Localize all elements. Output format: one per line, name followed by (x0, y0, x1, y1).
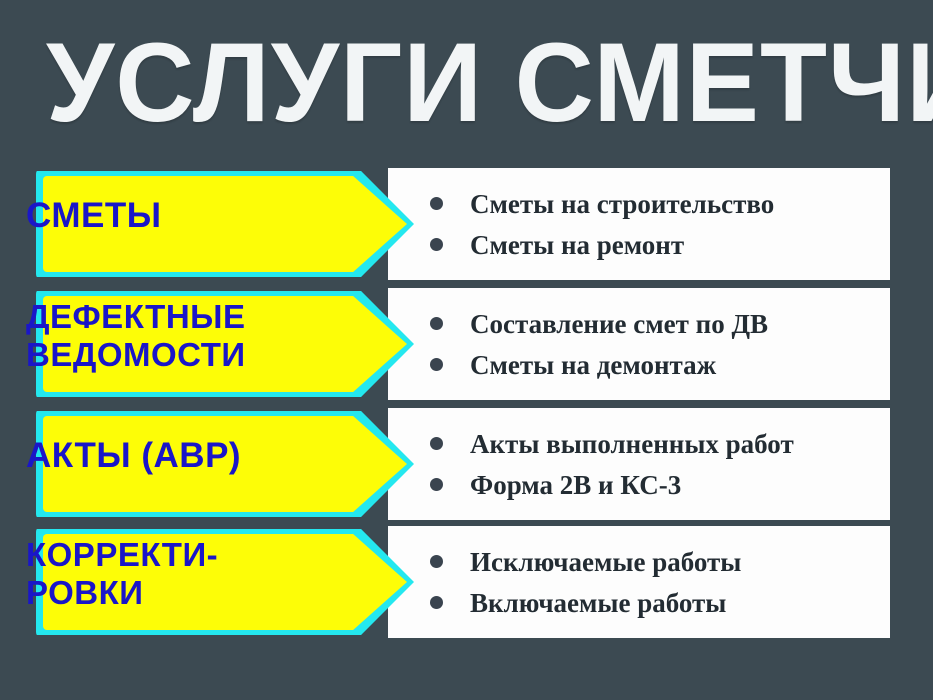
list-item: Сметы на ремонт (430, 228, 880, 262)
list-item-label: Форма 2В и КС-3 (470, 470, 681, 500)
list-item-label: Сметы на ремонт (470, 230, 684, 260)
service-category-label-line: ДЕФЕКТНЫЕ (26, 298, 245, 336)
service-item-list: Сметы на строительство Сметы на ремонт (430, 168, 880, 280)
service-category-label-line: РОВКИ (26, 574, 143, 612)
list-item-label: Акты выполненных работ (470, 429, 794, 459)
list-item: Сметы на строительство (430, 187, 880, 221)
list-item-label: Включаемые работы (470, 588, 726, 618)
list-item-label: Сметы на демонтаж (470, 350, 716, 380)
list-item-label: Составление смет по ДВ (470, 309, 768, 339)
service-category-label-line: КОРРЕКТИ- (26, 536, 218, 574)
bullet-dot-icon (430, 238, 443, 251)
service-category-label-line: ВЕДОМОСТИ (26, 336, 246, 374)
service-row: ДЕФЕКТНЫЕ ВЕДОМОСТИ Составление смет по … (0, 288, 933, 400)
list-item: Сметы на демонтаж (430, 348, 880, 382)
service-category-label: ДЕФЕКТНЫЕ ВЕДОМОСТИ (0, 288, 320, 384)
page-title: УСЛУГИ СМЕТЧИКА (46, 22, 889, 144)
service-item-list: Акты выполненных работ Форма 2В и КС-3 (430, 408, 880, 520)
service-row: КОРРЕКТИ- РОВКИ Исключаемые работы Включ… (0, 526, 933, 638)
service-category-label-line: СМЕТЫ (26, 196, 161, 236)
service-category-label: АКТЫ (АВР) (0, 408, 320, 504)
service-item-list: Исключаемые работы Включаемые работы (430, 526, 880, 638)
bullet-dot-icon (430, 317, 443, 330)
list-item-label: Исключаемые работы (470, 547, 741, 577)
bullet-dot-icon (430, 596, 443, 609)
list-item: Исключаемые работы (430, 545, 880, 579)
service-row: СМЕТЫ Сметы на строительство Сметы на ре… (0, 168, 933, 280)
poster-canvas: УСЛУГИ СМЕТЧИКА СМЕТЫ Сметы на строитель… (0, 0, 933, 700)
service-row: АКТЫ (АВР) Акты выполненных работ Форма … (0, 408, 933, 520)
bullet-dot-icon (430, 197, 443, 210)
service-category-label: КОРРЕКТИ- РОВКИ (0, 526, 320, 622)
bullet-dot-icon (430, 555, 443, 568)
bullet-dot-icon (430, 437, 443, 450)
list-item-label: Сметы на строительство (470, 189, 774, 219)
list-item: Форма 2В и КС-3 (430, 468, 880, 502)
list-item: Акты выполненных работ (430, 427, 880, 461)
list-item: Включаемые работы (430, 586, 880, 620)
list-item: Составление смет по ДВ (430, 307, 880, 341)
service-category-label: СМЕТЫ (0, 168, 320, 264)
service-item-list: Составление смет по ДВ Сметы на демонтаж (430, 288, 880, 400)
bullet-dot-icon (430, 478, 443, 491)
service-category-label-line: АКТЫ (АВР) (26, 436, 241, 476)
bullet-dot-icon (430, 358, 443, 371)
